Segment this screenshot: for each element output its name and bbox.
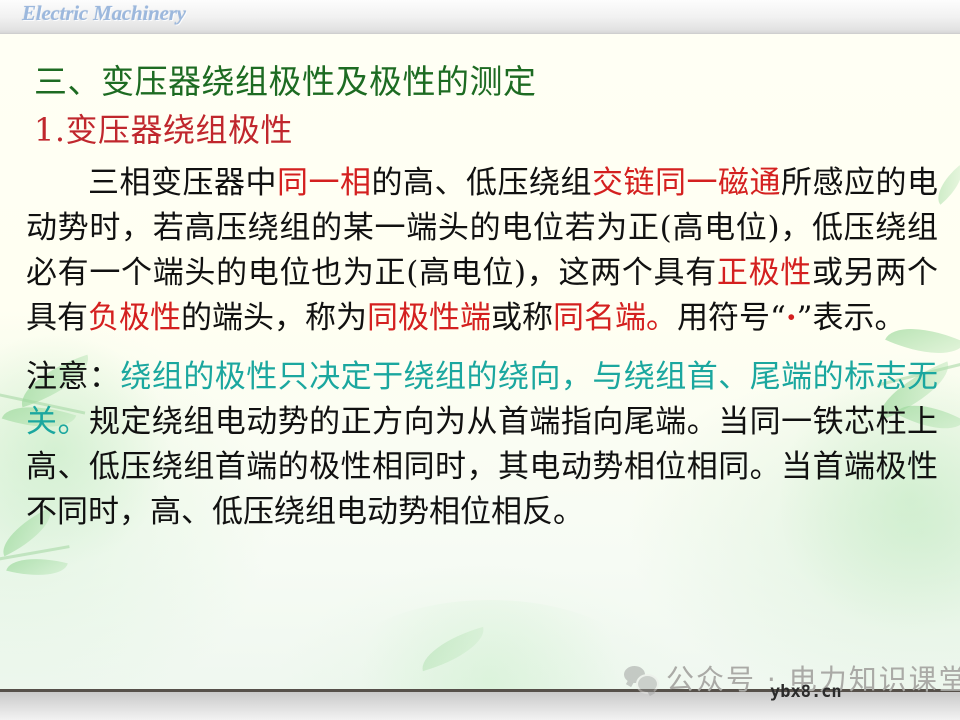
paragraph-note: 注意：绕组的极性只决定于绕组的绕向，与绕组首、尾端的标志无关。规定绕组电动势的正… [26,355,938,535]
section-heading: 三、变压器绕组极性及极性的测定 [34,55,537,103]
definition-run-1: 同一相 [277,165,372,201]
note-run-2: 规定绕组电动势的正方向为从首端指向尾端。当同一铁芯柱上高、低压绕组首端的极性相同… [26,404,938,530]
slide-canvas: Electric Machinery 三、变压器绕组极性及极性的测定 1.变压器… [0,0,960,720]
note-run-0: 注意： [26,359,120,395]
definition-run-2: 的高、低压绕组 [372,165,593,201]
header-band: Electric Machinery [0,0,960,34]
definition-run-0: 三相变压器中 [88,165,277,201]
definition-run-11: 同名端。 [553,300,677,336]
definition-run-12: 用符号“ [677,300,786,336]
definition-run-5: 正极性 [717,255,812,291]
header-title: Electric Machinery [22,1,186,26]
definition-run-3: 交链同一磁通 [592,165,781,201]
definition-run-14: ”表示。 [797,300,906,336]
site-stamp: ybx8.cn [770,682,842,702]
definition-run-9: 同极性端 [367,300,491,336]
item-heading: 1.变压器绕组极性 [34,105,293,151]
definition-run-8: 的端头，称为 [181,300,367,336]
slide-content: 三、变压器绕组极性及极性的测定 1.变压器绕组极性 三相变压器中同一相的高、低压… [0,33,960,683]
body-text-block: 三相变压器中同一相的高、低压绕组交链同一磁通所感应的电动势时，若高压绕组的某一端… [26,161,938,535]
paragraph-definition: 三相变压器中同一相的高、低压绕组交链同一磁通所感应的电动势时，若高压绕组的某一端… [26,161,938,341]
definition-run-10: 或称 [491,300,553,336]
definition-run-13: · [786,300,797,336]
definition-run-7: 负极性 [88,300,181,336]
